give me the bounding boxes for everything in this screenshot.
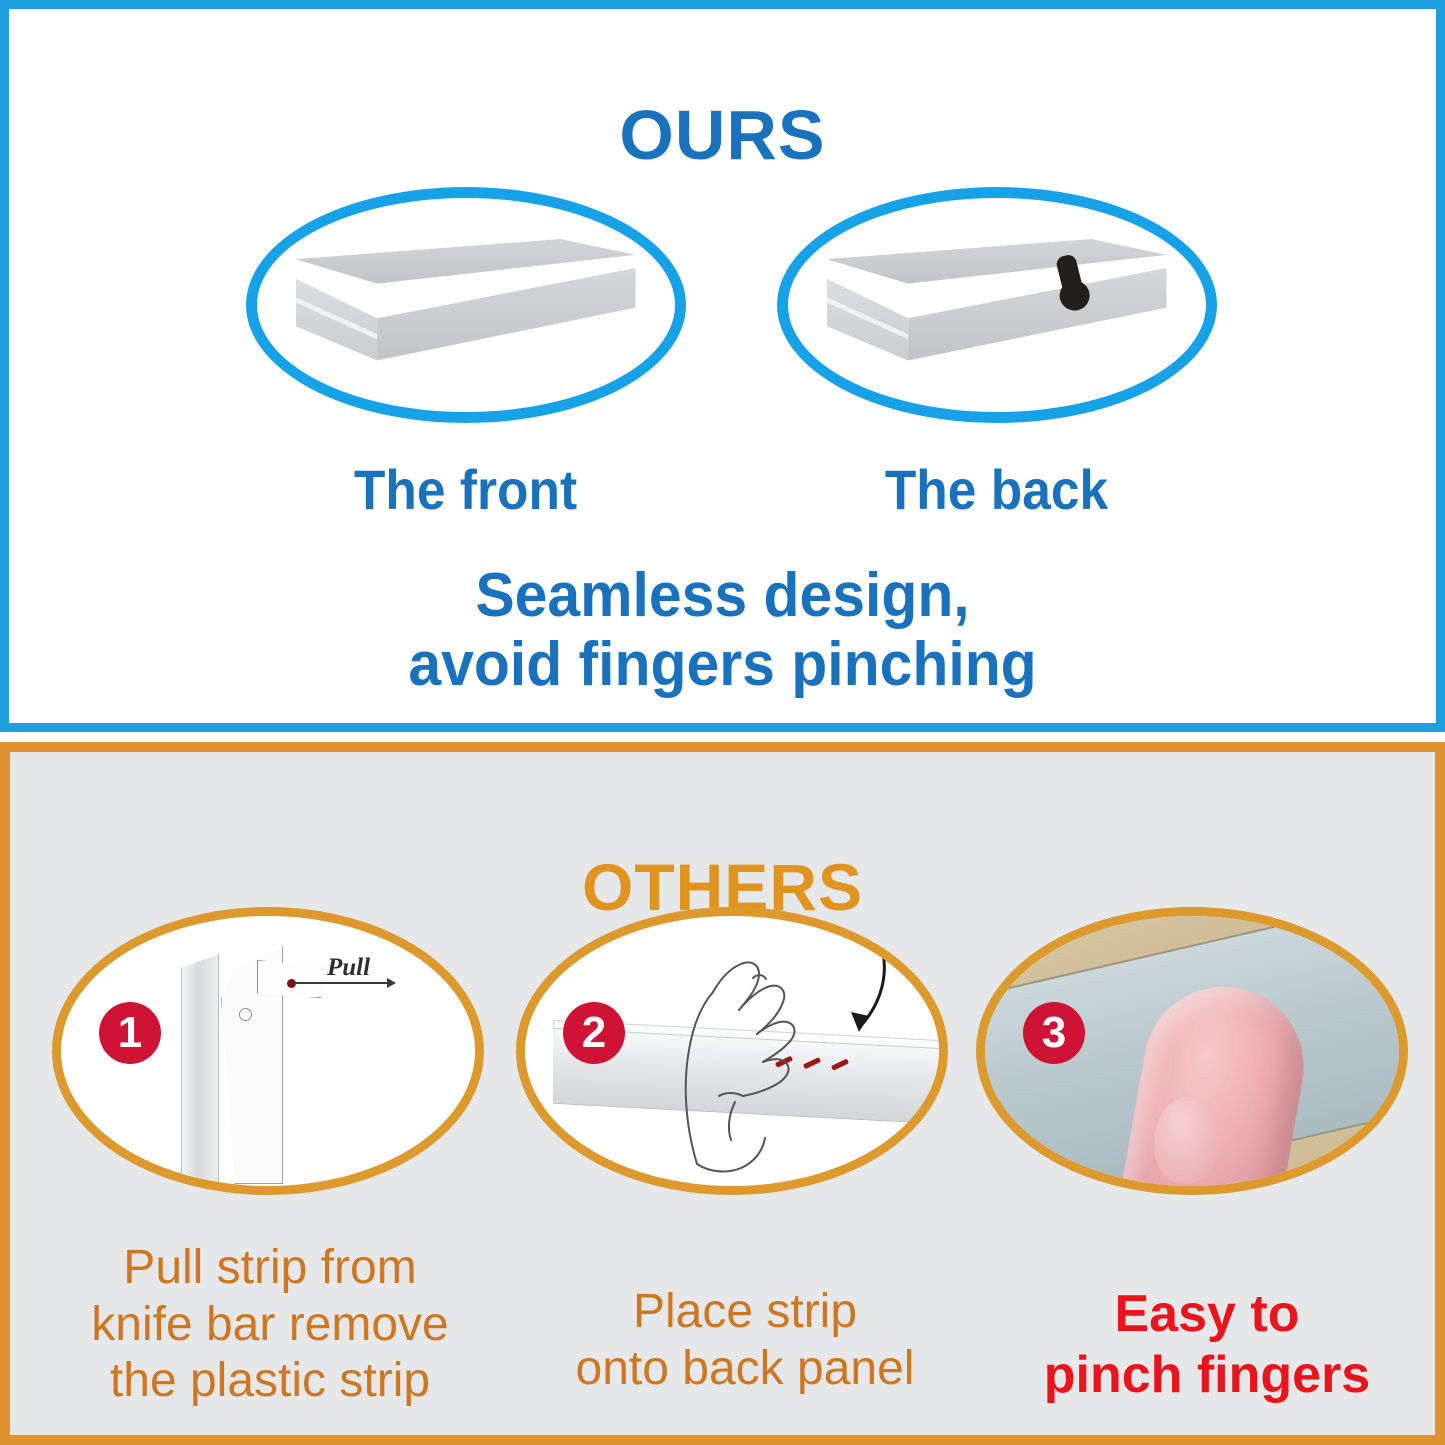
ours-tagline: Seamless design, avoid fingers pinching — [45, 561, 1401, 700]
step-number-badge-2: 2 — [563, 1002, 625, 1064]
step-3-cell: 3 — [962, 907, 1422, 1207]
blue-oval-frame-front — [246, 187, 686, 423]
pull-arrow-icon — [294, 982, 394, 984]
step-3-caption: Easy to pinch fingers — [972, 1284, 1442, 1407]
step-number-badge-1: 1 — [99, 1002, 161, 1064]
screw-hole-icon — [239, 1008, 252, 1021]
downward-curved-arrow-icon — [793, 936, 903, 1056]
orange-oval-frame-step3: 3 — [976, 907, 1408, 1195]
product-back-cell — [769, 187, 1224, 437]
product-front-label: The front — [256, 457, 675, 522]
step-2-cell: 2 — [502, 907, 962, 1207]
ours-product-row — [9, 187, 1436, 437]
orange-oval-frame-step2: 2 — [516, 907, 948, 1195]
others-step-row: Pull 1 — [10, 907, 1435, 1207]
knife-bar-front-illustration — [296, 239, 636, 371]
knife-bar-blade-shape — [181, 954, 219, 1184]
step-2-caption: Place strip onto back panel — [510, 1284, 980, 1397]
fingernail — [1153, 1096, 1220, 1184]
step-number-badge-3: 3 — [1023, 1002, 1085, 1064]
ours-panel-body: OURS — [9, 9, 1436, 723]
pull-annotation-label: Pull — [327, 954, 370, 982]
blue-oval-frame-back — [777, 187, 1217, 423]
product-front-cell — [238, 187, 693, 437]
step-1-caption: Pull strip from knife bar remove the pla… — [20, 1240, 520, 1410]
ours-title: OURS — [9, 100, 1436, 170]
orange-oval-frame-step1: Pull 1 — [52, 907, 484, 1195]
step-1-cell: Pull 1 — [38, 907, 498, 1207]
others-panel: OTHERS Pull 1 — [0, 742, 1445, 1445]
others-caption-row: Pull strip from knife bar remove the pla… — [10, 1240, 1435, 1435]
ours-panel: OURS — [0, 0, 1445, 732]
product-back-label: The back — [787, 457, 1206, 522]
infographic-page: OURS — [0, 0, 1445, 1445]
knife-bar-back-illustration — [827, 239, 1167, 371]
